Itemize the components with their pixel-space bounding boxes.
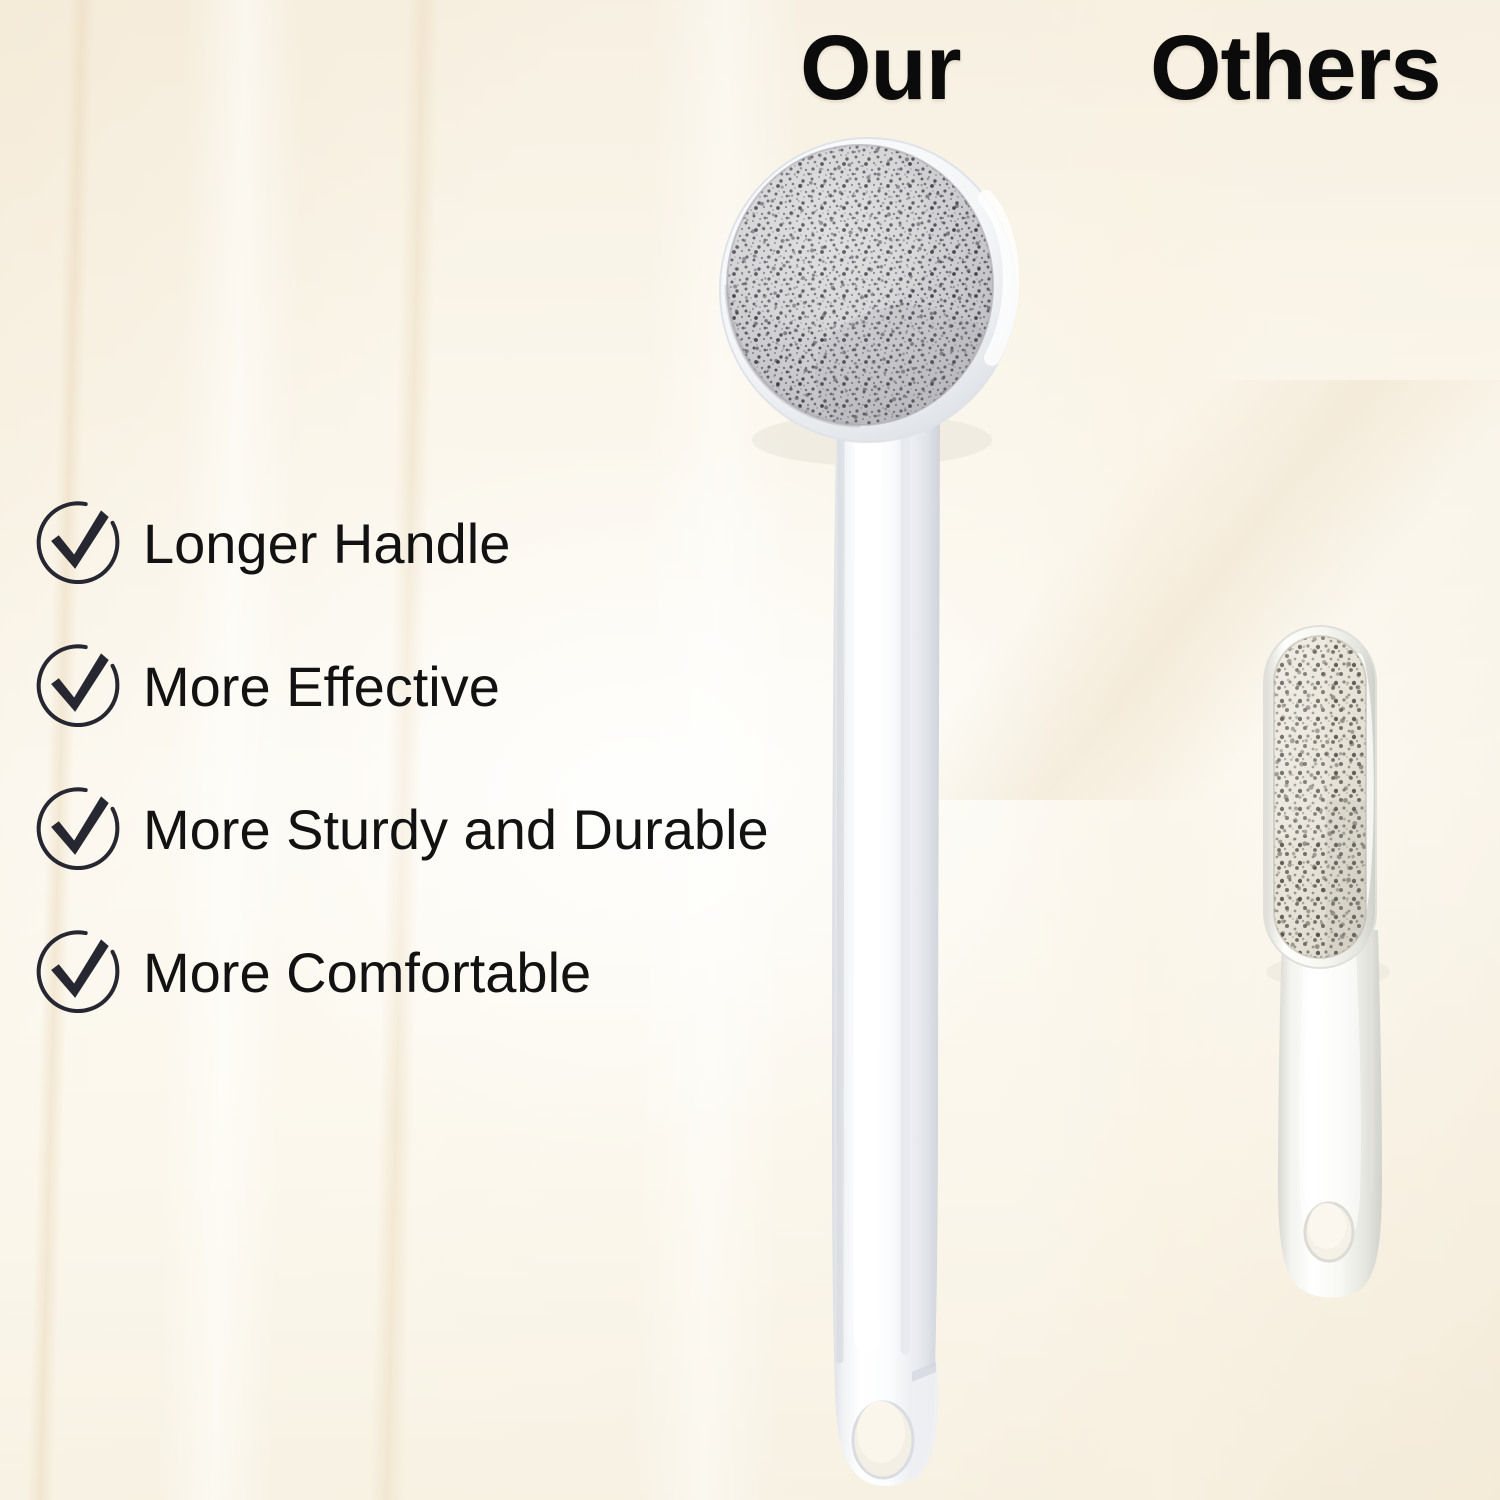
- check-circle-icon: [30, 780, 126, 876]
- feature-label: More Effective: [143, 659, 500, 715]
- feature-item-longer-handle: Longer Handle: [30, 492, 790, 592]
- heading-ours: Our: [800, 22, 961, 114]
- heading-others: Others: [1150, 22, 1441, 114]
- feature-item-more-effective: More Effective: [30, 635, 790, 735]
- feature-item-more-comfortable: More Comfortable: [30, 921, 790, 1021]
- feature-label: Longer Handle: [143, 516, 510, 572]
- feature-list: Longer Handle More Effective More Sturdy…: [30, 492, 790, 1064]
- long-handle-pumice-brush-illustration: [700, 110, 1060, 1500]
- check-circle-icon: [30, 637, 126, 733]
- feature-label: More Sturdy and Durable: [143, 802, 769, 858]
- product-image-others: [1230, 600, 1460, 1320]
- feature-label: More Comfortable: [143, 945, 591, 1001]
- check-circle-icon: [30, 494, 126, 590]
- product-comparison-image: Our Others Longer Handle More Effective …: [0, 0, 1500, 1500]
- product-image-ours: [700, 110, 1060, 1500]
- check-circle-icon: [30, 923, 126, 1019]
- short-handle-pumice-file-illustration: [1230, 600, 1460, 1320]
- feature-item-more-sturdy-and-durable: More Sturdy and Durable: [30, 778, 790, 878]
